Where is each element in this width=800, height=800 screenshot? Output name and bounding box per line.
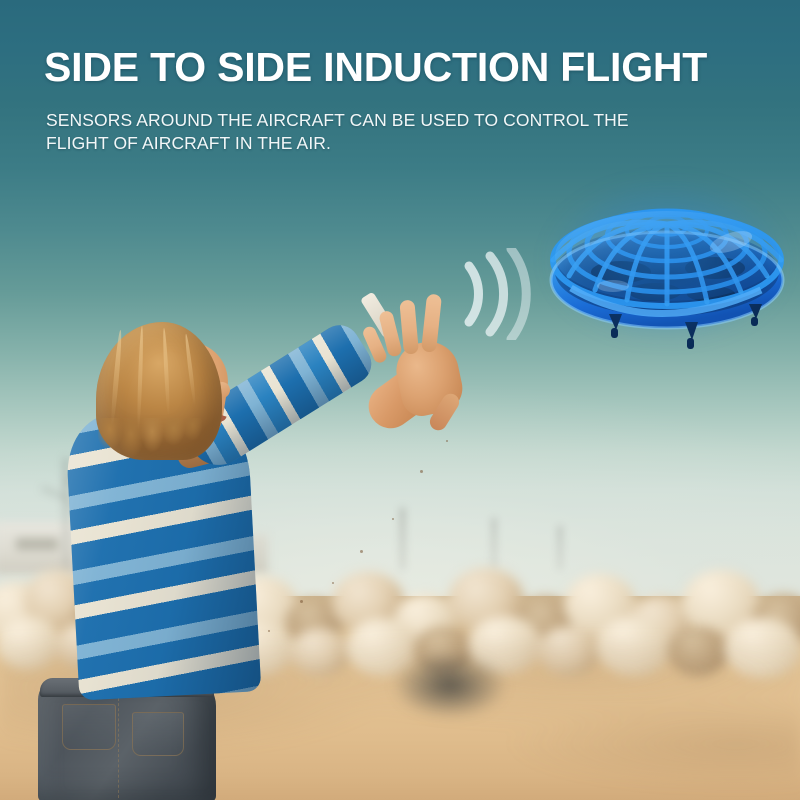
dust-speck (392, 518, 394, 520)
dust-speck (300, 600, 303, 603)
hair-tips (98, 418, 216, 474)
page-title: SIDE TO SIDE INDUCTION FLIGHT (44, 44, 707, 91)
dust-speck (268, 630, 270, 632)
subtitle-line-1: SENSORS AROUND THE AIRCRAFT CAN BE USED … (46, 109, 629, 132)
dust-speck (420, 470, 423, 473)
head (96, 322, 228, 462)
jeans-seam (118, 698, 119, 798)
dust-speck (332, 582, 334, 584)
blue-ufo-drone (535, 168, 800, 353)
boy-figure (0, 300, 480, 800)
jeans-pocket (62, 704, 116, 750)
dust-speck (360, 550, 363, 553)
dust-speck (446, 440, 448, 442)
subtitle-line-2: FLIGHT OF AIRCRAFT IN THE AIR. (46, 132, 629, 155)
jeans-pocket (132, 712, 184, 756)
finger-middle (399, 300, 419, 355)
drone-glow (545, 178, 790, 343)
subtitle: SENSORS AROUND THE AIRCRAFT CAN BE USED … (46, 109, 629, 155)
marketing-banner: SIDE TO SIDE INDUCTION FLIGHT SENSORS AR… (0, 0, 800, 800)
